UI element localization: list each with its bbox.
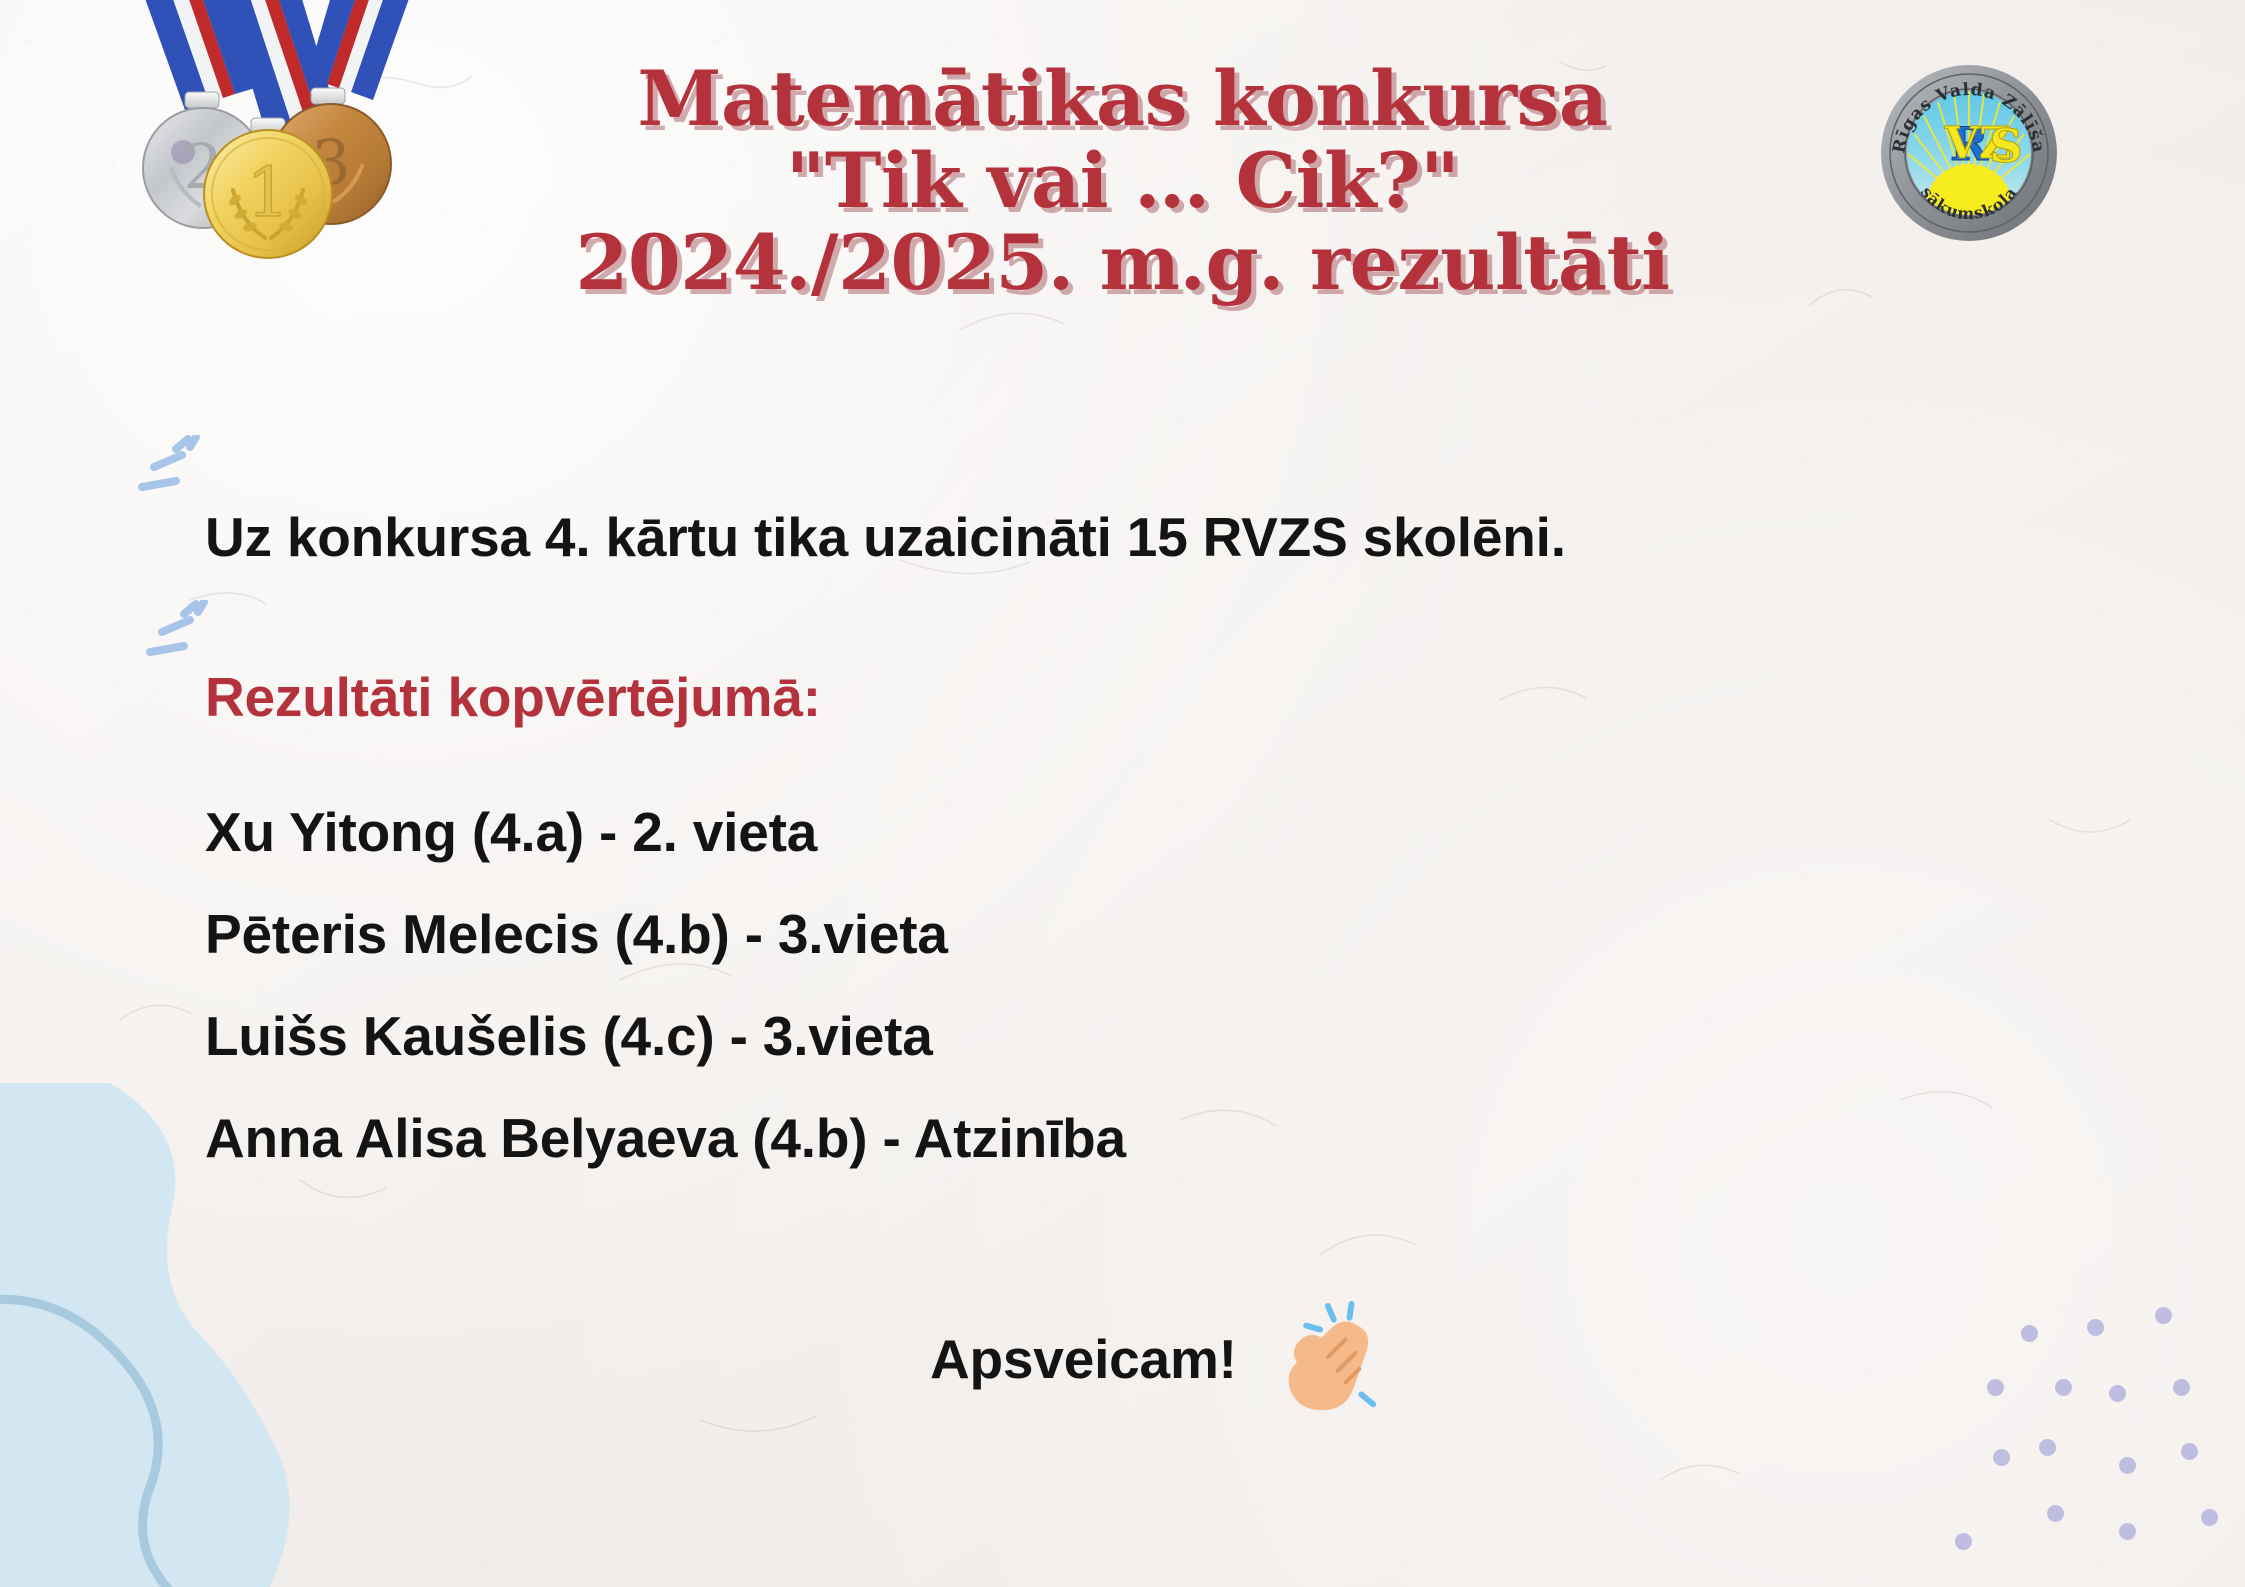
intro-text: Uz konkursa 4. kārtu tika uzaicināti 15 … (205, 505, 1566, 569)
sparkle-icon-intro (132, 435, 212, 515)
list-item: Xu Yitong (4.a) - 2. vieta (205, 800, 1705, 864)
title-line-2: "Tik vai … Cik?" (0, 140, 2245, 222)
poster-title: Matemātikas konkursa "Tik vai … Cik?" 20… (0, 58, 2245, 304)
results-subheading: Rezultāti kopvērtējumā: (205, 665, 821, 729)
list-item: Anna Alisa Belyaeva (4.b) - Atzinība (205, 1106, 1705, 1170)
list-item: Luišs Kaušelis (4.c) - 3.vieta (205, 1004, 1705, 1068)
poster-canvas: 2 3 1 (0, 0, 2245, 1587)
results-list: Xu Yitong (4.a) - 2. vieta Pēteris Melec… (205, 800, 1705, 1208)
clapping-hands-icon (1263, 1300, 1381, 1418)
list-item: Pēteris Melecis (4.b) - 3.vieta (205, 902, 1705, 966)
congratulations-row: Apsveicam! (930, 1300, 1381, 1418)
congratulations-text: Apsveicam! (930, 1327, 1237, 1391)
title-line-1: Matemātikas konkursa (0, 58, 2245, 140)
decorative-dots (1915, 1287, 2245, 1587)
title-line-3: 2024./2025. m.g. rezultāti (0, 222, 2245, 304)
